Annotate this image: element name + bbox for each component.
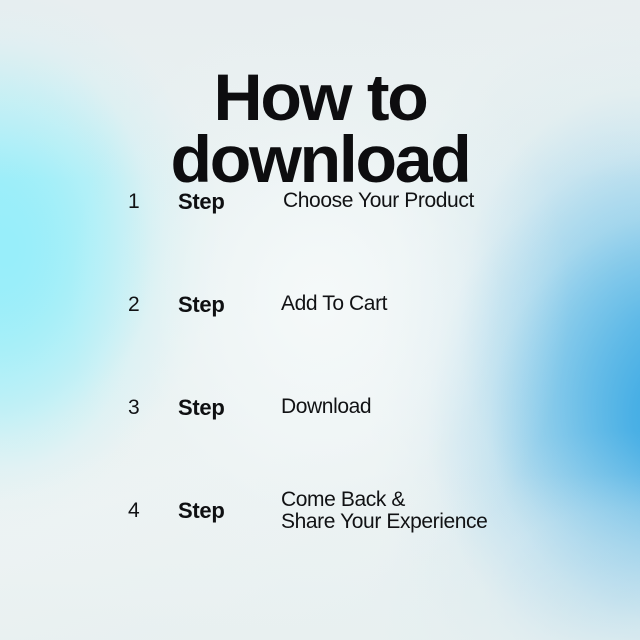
step-description: Come Back & Share Your Experience bbox=[281, 489, 487, 533]
step-description: Download bbox=[281, 396, 371, 418]
step-description: Add To Cart bbox=[281, 293, 387, 315]
steps-list: 1 Step Choose Your Product 2 Step Add To… bbox=[0, 182, 640, 491]
list-item: 2 Step Add To Cart bbox=[0, 285, 640, 388]
list-item: 3 Step Download bbox=[0, 388, 640, 491]
step-number: 4 bbox=[128, 499, 140, 523]
step-description: Choose Your Product bbox=[283, 190, 474, 212]
step-label: Step bbox=[178, 498, 224, 524]
poster-content: How to download 1 Step Choose Your Produ… bbox=[0, 0, 640, 640]
poster-canvas: How to download 1 Step Choose Your Produ… bbox=[0, 0, 640, 640]
list-item: 1 Step Choose Your Product bbox=[0, 182, 640, 285]
step-label: Step bbox=[178, 395, 224, 421]
page-title: How to download bbox=[0, 66, 640, 190]
step-number: 1 bbox=[128, 190, 140, 214]
step-number: 3 bbox=[128, 396, 140, 420]
step-label: Step bbox=[178, 189, 224, 215]
step-number: 2 bbox=[128, 293, 140, 317]
step-label: Step bbox=[178, 292, 224, 318]
